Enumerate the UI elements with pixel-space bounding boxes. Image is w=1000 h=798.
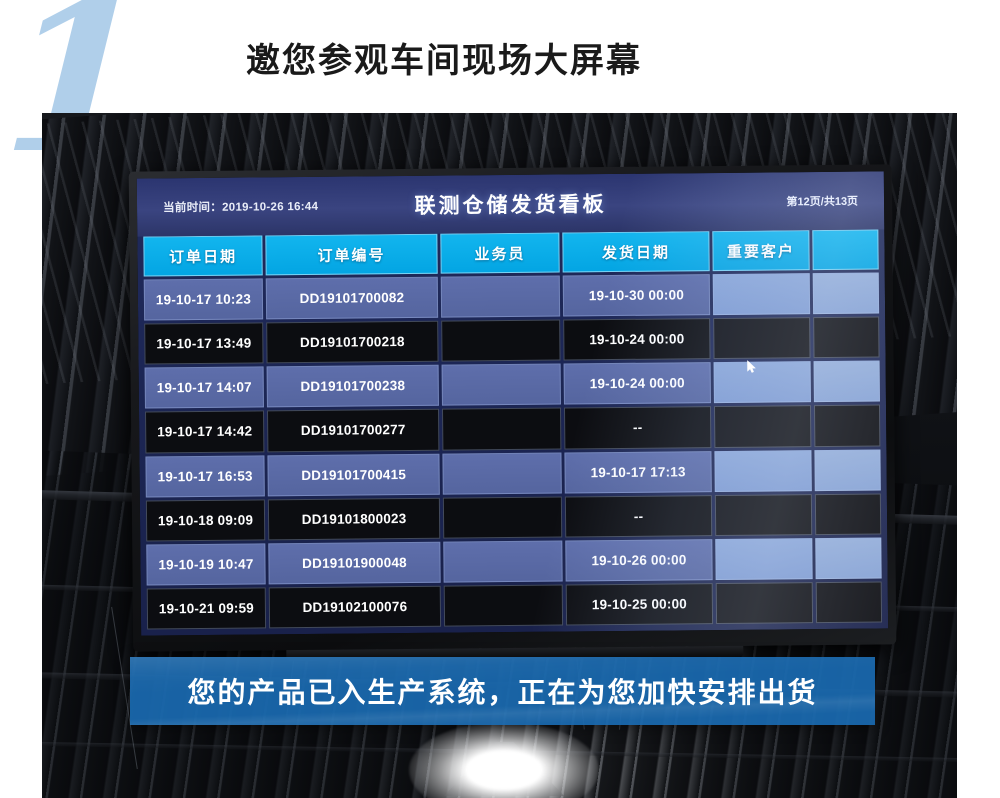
cell-order-date: 19-10-21 09:59 — [147, 587, 266, 629]
table-row: 19-10-17 14:42 DD19101700277 -- — [145, 405, 880, 453]
cell-extra — [816, 581, 882, 623]
cell-ship-date: -- — [564, 406, 711, 449]
table-row: 19-10-17 10:23 DD19101700082 19-10-30 00… — [144, 272, 879, 320]
cell-ship-date: 19-10-17 17:13 — [564, 451, 711, 494]
cell-salesperson — [444, 584, 563, 626]
cell-key-customer — [715, 538, 812, 580]
cell-key-customer — [713, 273, 810, 315]
cell-extra — [813, 272, 879, 314]
caption-text: 您的产品已入生产系统，正在为您加快安排出货 — [187, 671, 817, 711]
tv-bezel: 当前时间：2019-10-26 16:44 联测仓储发货看板 第12页/共13页… — [129, 164, 897, 651]
cell-ship-date: 19-10-26 00:00 — [565, 539, 712, 582]
cell-extra — [814, 361, 880, 403]
cell-order-number: DD19101800023 — [268, 497, 440, 540]
cell-extra — [814, 405, 880, 447]
table-row: 19-10-21 09:59 DD19102100076 19-10-25 00… — [147, 581, 882, 629]
cell-salesperson — [443, 496, 562, 538]
cell-key-customer — [716, 582, 813, 624]
cell-order-number: DD19102100076 — [269, 586, 441, 629]
factory-photo: 当前时间：2019-10-26 16:44 联测仓储发货看板 第12页/共13页… — [42, 113, 957, 798]
cell-order-number: DD19101700218 — [266, 321, 438, 364]
cell-order-date: 19-10-17 14:42 — [145, 411, 264, 453]
cell-order-date: 19-10-17 14:07 — [145, 367, 264, 409]
caption-banner: 您的产品已入生产系统，正在为您加快安排出货 — [130, 657, 875, 725]
column-header-order-number: 订单编号 — [265, 234, 437, 276]
column-header-ship-date: 发货日期 — [562, 231, 709, 272]
column-header-order-date: 订单日期 — [143, 235, 262, 276]
cell-order-date: 19-10-18 09:09 — [146, 499, 265, 541]
cell-salesperson — [442, 452, 561, 494]
table-row: 19-10-17 14:07 DD19101700238 19-10-24 00… — [145, 361, 880, 409]
page-root: 1 邀您参观车间现场大屏幕 当前时间：2019-10-26 16:44 — [0, 0, 1000, 798]
cell-ship-date: 19-10-25 00:00 — [566, 583, 713, 626]
cell-order-date: 19-10-17 10:23 — [144, 278, 263, 320]
page-title: 邀您参观车间现场大屏幕 — [246, 33, 642, 82]
cell-order-date: 19-10-17 13:49 — [144, 323, 263, 365]
cell-extra — [814, 449, 880, 491]
cell-salesperson — [442, 364, 561, 406]
tv-screen: 当前时间：2019-10-26 16:44 联测仓储发货看板 第12页/共13页… — [137, 171, 888, 635]
cell-salesperson — [442, 408, 561, 450]
column-header-key-customer: 重要客户 — [712, 230, 809, 271]
cell-ship-date: 19-10-24 00:00 — [564, 362, 711, 405]
cell-extra — [813, 317, 879, 359]
column-header-salesperson: 业务员 — [440, 233, 559, 274]
cell-key-customer — [714, 361, 811, 403]
table-row: 19-10-17 16:53 DD19101700415 19-10-17 17… — [145, 449, 880, 497]
cell-order-number: DD19101900048 — [268, 541, 440, 584]
cell-order-date: 19-10-17 16:53 — [145, 455, 264, 497]
cell-salesperson — [441, 276, 560, 318]
table-row: 19-10-18 09:09 DD19101800023 -- — [146, 493, 881, 541]
cell-extra — [815, 537, 881, 579]
cell-ship-date: 19-10-30 00:00 — [563, 274, 710, 317]
cell-key-customer — [714, 406, 811, 448]
current-time-label: 当前时间：2019-10-26 16:44 — [163, 198, 318, 215]
table-row: 19-10-17 13:49 DD19101700218 19-10-24 00… — [144, 317, 879, 365]
page-indicator: 第12页/共13页 — [786, 193, 858, 210]
warehouse-dashboard: 当前时间：2019-10-26 16:44 联测仓储发货看板 第12页/共13页… — [137, 171, 888, 635]
column-header-extra — [812, 229, 878, 270]
cell-key-customer — [713, 317, 810, 359]
cell-salesperson — [441, 320, 560, 362]
cell-key-customer — [714, 450, 811, 492]
cell-order-date: 19-10-19 10:47 — [146, 543, 265, 585]
cell-salesperson — [443, 540, 562, 582]
dashboard-topbar: 当前时间：2019-10-26 16:44 联测仓储发货看板 第12页/共13页 — [137, 171, 885, 236]
cell-extra — [815, 493, 881, 535]
cell-order-number: DD19101700082 — [266, 277, 438, 320]
table-header-row: 订单日期 订单编号 业务员 发货日期 重要客户 — [143, 229, 878, 276]
cell-ship-date: 19-10-24 00:00 — [563, 318, 710, 361]
cell-order-number: DD19101700277 — [267, 409, 439, 452]
cell-order-number: DD19101700238 — [267, 365, 439, 408]
shipment-table: 订单日期 订单编号 业务员 发货日期 重要客户 19-10-17 10:23 D… — [137, 229, 888, 635]
cell-ship-date: -- — [565, 495, 712, 538]
wall-mounted-tv: 当前时间：2019-10-26 16:44 联测仓储发货看板 第12页/共13页… — [129, 164, 897, 651]
cell-order-number: DD19101700415 — [267, 453, 439, 496]
table-row: 19-10-19 10:47 DD19101900048 19-10-26 00… — [146, 537, 881, 585]
cell-key-customer — [715, 494, 812, 536]
